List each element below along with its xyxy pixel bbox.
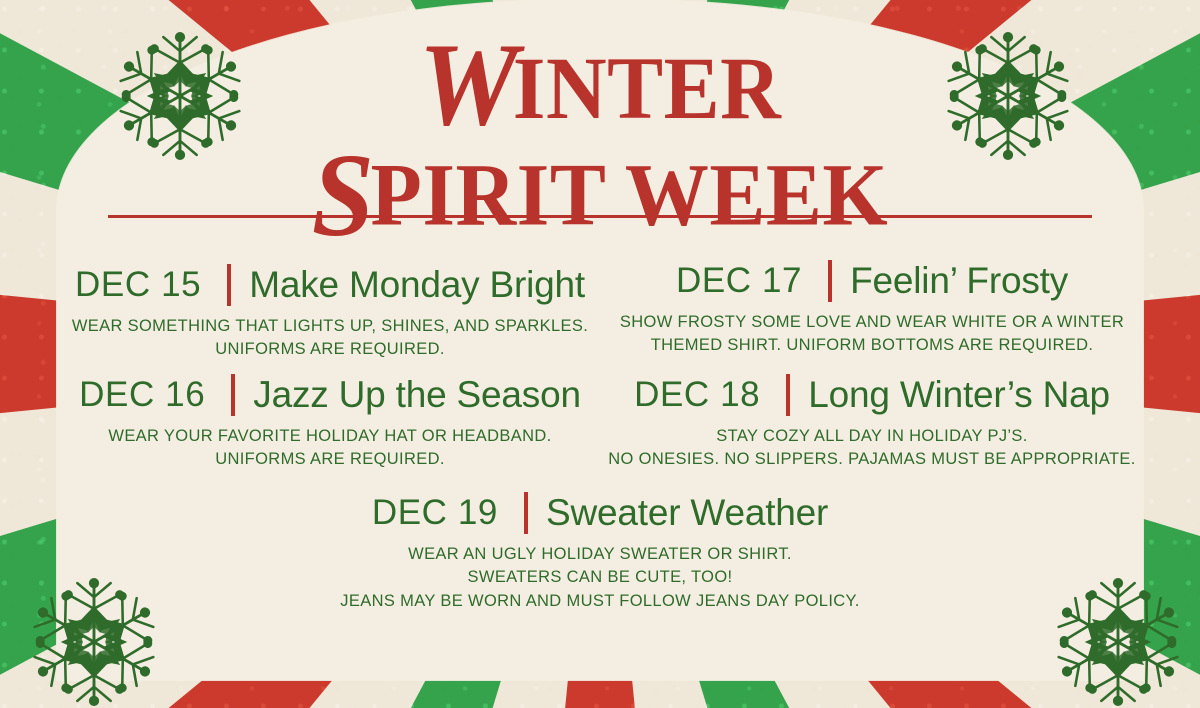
event-description: WEAR SOMETHING THAT LIGHTS UP, SHINES, A… (60, 315, 600, 362)
poster: WINTER SPIRIT WEEK DEC 15 Make Monday Br… (0, 0, 1200, 708)
event-description: WEAR YOUR FAVORITE HOLIDAY HAT OR HEADBA… (60, 425, 600, 472)
event-date: DEC 19 (372, 493, 498, 533)
event-divider-bar (786, 374, 790, 416)
event-description-line: NO ONESIES. NO SLIPPERS. PAJAMAS MUST BE… (600, 448, 1144, 471)
snowflake-icon (116, 32, 244, 160)
event-description-line: JEANS MAY BE WORN AND MUST FOLLOW JEANS … (330, 590, 870, 613)
event-description-line: WEAR YOUR FAVORITE HOLIDAY HAT OR HEADBA… (60, 425, 600, 448)
event-description-line: SWEATERS CAN BE CUTE, TOO! (330, 566, 870, 589)
event-description: STAY COZY ALL DAY IN HOLIDAY PJ’S. NO ON… (600, 425, 1144, 472)
event-date: DEC 18 (634, 375, 760, 415)
event-date: DEC 17 (676, 261, 802, 301)
event-description-line: UNIFORMS ARE REQUIRED. (60, 338, 600, 361)
event-description: SHOW FROSTY SOME LOVE AND WEAR WHITE OR … (600, 311, 1144, 358)
event-description-line: STAY COZY ALL DAY IN HOLIDAY PJ’S. (600, 425, 1144, 448)
title-divider-rule (108, 215, 1092, 218)
snowflake-icon (944, 32, 1072, 160)
snowflake-icon (30, 578, 158, 706)
event-item: DEC 18 Long Winter’s Nap STAY COZY ALL D… (600, 374, 1144, 472)
event-description-line: SHOW FROSTY SOME LOVE AND WEAR WHITE OR … (600, 311, 1144, 334)
event-header: DEC 17 Feelin’ Frosty (600, 260, 1144, 302)
event-date: DEC 16 (79, 375, 205, 415)
event-title: Long Winter’s Nap (808, 374, 1110, 416)
event-item: DEC 19 Sweater Weather WEAR AN UGLY HOLI… (330, 492, 870, 613)
event-date: DEC 15 (75, 265, 201, 305)
event-description-line: THEMED SHIRT. UNIFORM BOTTOMS ARE REQUIR… (600, 334, 1144, 357)
event-title: Make Monday Bright (249, 264, 585, 306)
event-item: DEC 17 Feelin’ Frosty SHOW FROSTY SOME L… (600, 260, 1144, 358)
event-title: Sweater Weather (546, 492, 828, 534)
event-title: Jazz Up the Season (253, 374, 581, 416)
event-description: WEAR AN UGLY HOLIDAY SWEATER OR SHIRT. S… (330, 543, 870, 613)
event-divider-bar (524, 492, 528, 534)
event-header: DEC 19 Sweater Weather (330, 492, 870, 534)
event-divider-bar (231, 374, 235, 416)
event-item: DEC 15 Make Monday Bright WEAR SOMETHING… (60, 264, 600, 362)
event-title: Feelin’ Frosty (850, 260, 1068, 302)
event-divider-bar (227, 264, 231, 306)
event-divider-bar (828, 260, 832, 302)
event-description-line: UNIFORMS ARE REQUIRED. (60, 448, 600, 471)
event-header: DEC 15 Make Monday Bright (60, 264, 600, 306)
event-description-line: WEAR SOMETHING THAT LIGHTS UP, SHINES, A… (60, 315, 600, 338)
event-header: DEC 16 Jazz Up the Season (60, 374, 600, 416)
event-description-line: WEAR AN UGLY HOLIDAY SWEATER OR SHIRT. (330, 543, 870, 566)
event-item: DEC 16 Jazz Up the Season WEAR YOUR FAVO… (60, 374, 600, 472)
event-header: DEC 18 Long Winter’s Nap (600, 374, 1144, 416)
snowflake-icon (1054, 578, 1182, 706)
